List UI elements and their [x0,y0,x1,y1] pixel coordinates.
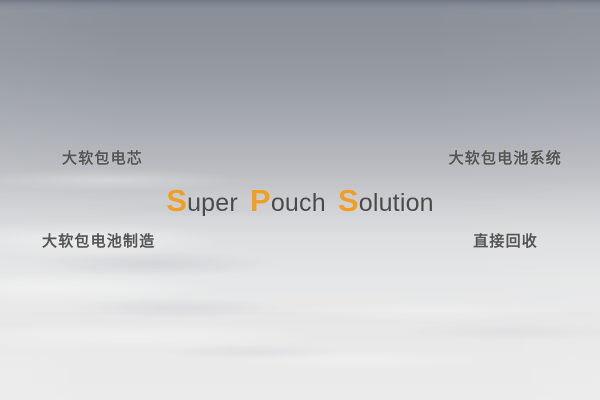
presentation-slide: 大软包电芯 大软包电池系统 SuperPouchSolution 大软包电池制造… [0,0,600,400]
headline-rest-2: ouch [271,189,326,217]
label-top-right: 大软包电池系统 [449,147,562,168]
headline-cap-1: S [166,183,187,218]
headline-word-3: Solution [338,185,434,216]
headline-word-1: Super [166,185,238,216]
label-top-left: 大软包电芯 [62,147,143,168]
headline-rest-1: uper [187,189,238,217]
headline-rest-3: olution [359,189,434,217]
label-bottom-left: 大软包电池制造 [42,230,155,251]
headline: SuperPouchSolution [0,185,600,216]
label-bottom-right: 直接回收 [473,230,538,251]
headline-cap-3: S [338,183,359,218]
headline-word-2: Pouch [250,185,326,216]
slide-content: 大软包电芯 大软包电池系统 SuperPouchSolution 大软包电池制造… [0,0,600,400]
headline-cap-2: P [250,183,271,218]
